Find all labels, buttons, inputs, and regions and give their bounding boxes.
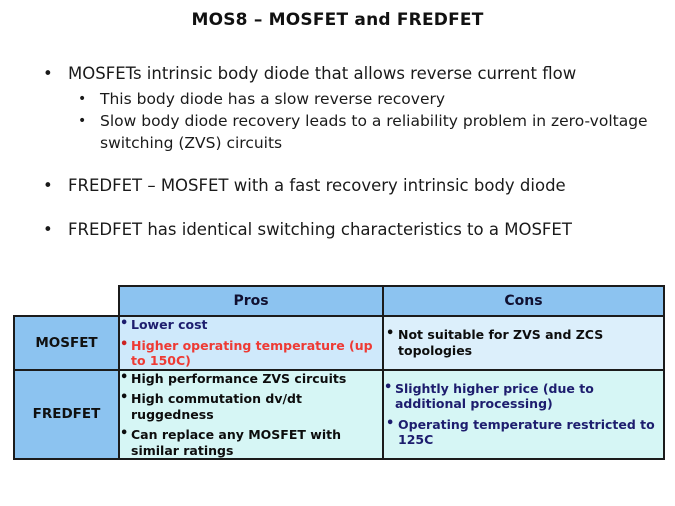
list-item-text: High performance ZVS circuits <box>131 371 346 386</box>
cell-mosfet-cons: • Not suitable for ZVS and ZCS topologie… <box>383 316 664 370</box>
bullet-item-4: • FREDFET has identical switching charac… <box>38 218 648 242</box>
list-item-text: Operating temperature restricted to 125C <box>398 417 655 448</box>
page-title: MOS8 – MOSFET and FREDFET <box>0 10 675 30</box>
table-corner-blank <box>14 286 119 316</box>
row-label-mosfet: MOSFET <box>14 316 119 370</box>
bullet-marker: • <box>120 370 128 386</box>
bullet-text: FREDFET – MOSFET with a fast recovery in… <box>68 176 566 195</box>
row-label-fredfet: FREDFET <box>14 370 119 460</box>
comparison-table: Pros Cons MOSFET • Lower cost • Higher o… <box>13 285 665 460</box>
bullet-text: This body diode has a slow reverse recov… <box>100 90 445 108</box>
list-item-text: High commutation dv/dt ruggedness <box>131 391 302 422</box>
bullet-item-1: • This body diode has a slow reverse rec… <box>38 88 648 110</box>
bullet-marker: • <box>120 337 128 353</box>
cell-bullet-list: • Lower cost • Higher operating temperat… <box>120 317 382 369</box>
cell-fredfet-pros: • High performance ZVS circuits • High c… <box>119 370 383 460</box>
table-row: MOSFET • Lower cost • Higher operating t… <box>14 316 664 370</box>
cell-bullet-list: • Slightly higher price (due to addition… <box>384 381 663 448</box>
column-header-cons: Cons <box>383 286 664 316</box>
bullet-list: • MOSFETs intrinsic body diode that allo… <box>38 62 648 242</box>
list-item: • High commutation dv/dt ruggedness <box>120 391 382 422</box>
list-item: • Not suitable for ZVS and ZCS topologie… <box>384 327 663 358</box>
bullet-item-3: • FREDFET – MOSFET with a fast recovery … <box>38 174 648 198</box>
cell-fredfet-cons: • Slightly higher price (due to addition… <box>383 370 664 460</box>
bullet-item-0: • MOSFETs intrinsic body diode that allo… <box>38 62 648 86</box>
bullet-item-2: • Slow body diode recovery leads to a re… <box>38 110 648 154</box>
bullet-text: Slow body diode recovery leads to a reli… <box>100 112 648 152</box>
bullet-marker: • <box>386 326 394 342</box>
bullet-marker: • <box>78 88 86 110</box>
list-item: • Higher operating temperature (up to 15… <box>120 338 382 369</box>
list-item: • High performance ZVS circuits <box>120 371 382 387</box>
bullet-marker: • <box>386 416 394 432</box>
cell-bullet-list: • High performance ZVS circuits • High c… <box>120 371 382 459</box>
list-item-text: Higher operating temperature (up to 150C… <box>131 338 373 369</box>
list-item: • Can replace any MOSFET with similar ra… <box>120 427 382 458</box>
bullet-marker: • <box>384 380 392 396</box>
bullet-marker: • <box>120 316 128 332</box>
list-item-text: Slightly higher price (due to additional… <box>395 381 594 412</box>
cell-mosfet-pros: • Lower cost • Higher operating temperat… <box>119 316 383 370</box>
cell-bullet-list: • Not suitable for ZVS and ZCS topologie… <box>384 327 663 358</box>
column-header-pros: Pros <box>119 286 383 316</box>
bullet-marker: • <box>43 62 53 86</box>
list-item: • Operating temperature restricted to 12… <box>384 417 663 448</box>
list-item-text: Not suitable for ZVS and ZCS topologies <box>398 327 603 358</box>
spacer <box>38 154 648 174</box>
bullet-marker: • <box>43 218 53 242</box>
list-item-text: Can replace any MOSFET with similar rati… <box>131 427 341 458</box>
bullet-marker: • <box>78 110 86 132</box>
bullet-marker: • <box>120 426 128 442</box>
spacer <box>38 198 648 218</box>
table-header-row: Pros Cons <box>14 286 664 316</box>
bullet-marker: • <box>43 174 53 198</box>
list-item-text: Lower cost <box>131 317 208 332</box>
list-item: • Slightly higher price (due to addition… <box>384 381 663 412</box>
bullet-marker: • <box>120 390 128 406</box>
bullet-text: FREDFET has identical switching characte… <box>68 220 572 239</box>
table-row: FREDFET • High performance ZVS circuits … <box>14 370 664 460</box>
bullet-text: MOSFETs intrinsic body diode that allows… <box>68 64 576 83</box>
list-item: • Lower cost <box>120 317 382 333</box>
